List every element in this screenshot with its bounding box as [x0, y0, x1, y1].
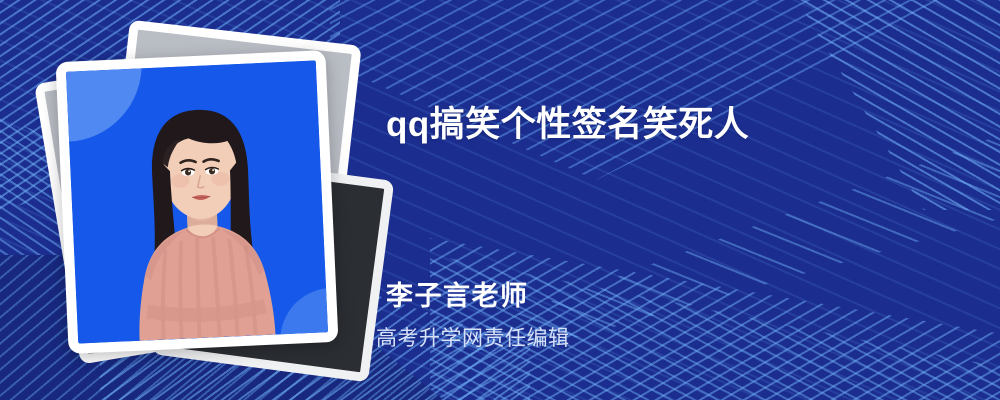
background-chevron-bottom-upper — [430, 238, 1000, 400]
background-chevron-top-center — [330, 0, 1000, 180]
author-banner: qq搞笑个性签名笑死人 李子言老师 高考升学网责任编辑 — [0, 0, 1000, 400]
author-photo-stack — [60, 36, 350, 356]
author-name: 李子言老师 — [386, 274, 529, 313]
author-role: 高考升学网责任编辑 — [376, 322, 570, 352]
author-photo-card — [56, 50, 339, 354]
background-diagonal-mid-right — [420, 120, 1000, 350]
background-chevron-bottom-lower — [430, 240, 1000, 400]
article-title: qq搞笑个性签名笑死人 — [386, 96, 749, 147]
author-portrait-illustration — [86, 83, 317, 343]
author-photo — [66, 60, 328, 343]
